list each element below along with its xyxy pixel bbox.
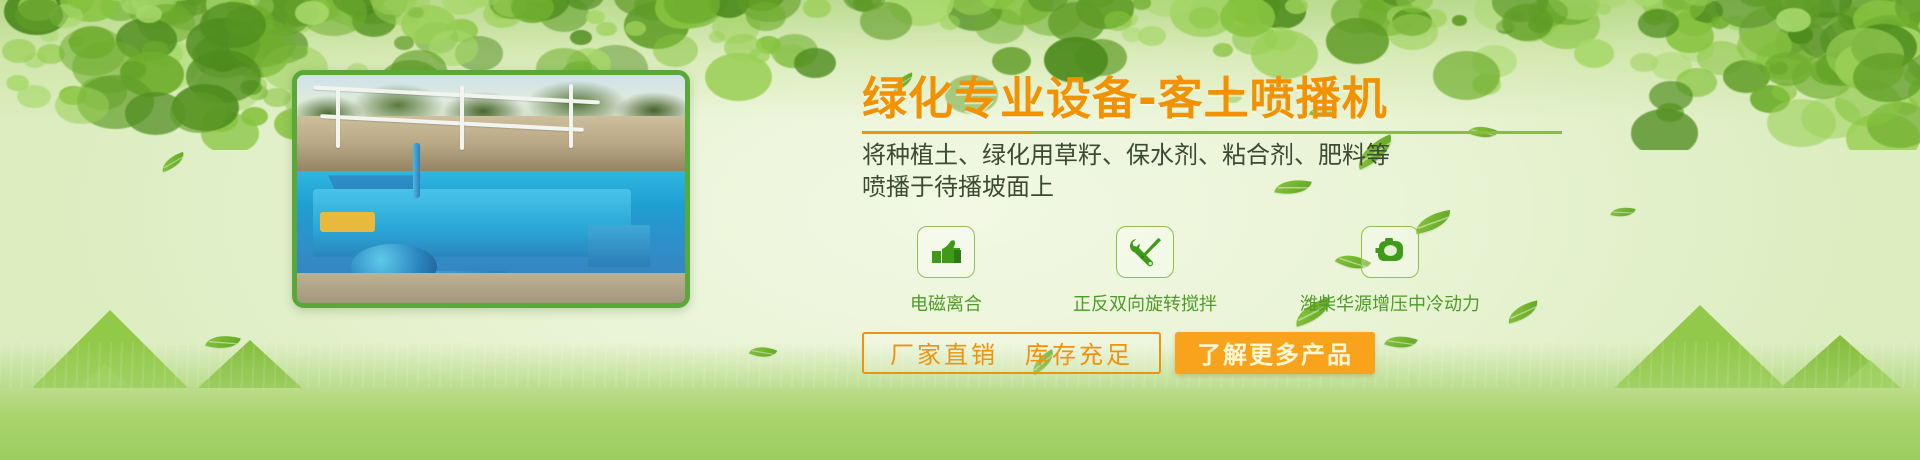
cta-outline-text: 厂家直销 库存充足: [862, 332, 1161, 374]
ground-strip: [0, 388, 1920, 460]
feature-label-3: 潍柴华源增压中冷动力: [1300, 290, 1480, 316]
feature-list: 电磁离合 正反双向旋转搅拌: [862, 226, 1852, 316]
feature-item-3[interactable]: 潍柴华源增压中冷动力: [1260, 226, 1520, 316]
feature-label-2: 正反双向旋转搅拌: [1073, 290, 1217, 316]
engine-gear-icon: [1361, 226, 1419, 278]
title-underline: [862, 131, 1562, 134]
banner-subtitle-line-1: 将种植土、绿化用草籽、保水剂、粘合剂、肥料等: [862, 140, 1852, 172]
tools-wrench-screwdriver-icon: [1116, 226, 1174, 278]
banner-content: 绿化专业设备-客土喷播机 将种植土、绿化用草籽、保水剂、粘合剂、肥料等 喷播于待…: [862, 74, 1852, 374]
feature-label-1: 电磁离合: [910, 290, 982, 316]
feature-item-1[interactable]: 电磁离合: [862, 226, 1030, 316]
feature-item-2[interactable]: 正反双向旋转搅拌: [1030, 226, 1260, 316]
banner-title: 绿化专业设备-客土喷播机: [862, 74, 1852, 124]
cta-row: 厂家直销 库存充足 了解更多产品: [862, 332, 1852, 374]
product-photo[interactable]: [292, 70, 690, 308]
banner-subtitle-line-2: 喷播于待播坡面上: [862, 172, 1852, 204]
thumbs-up-icon: [917, 226, 975, 278]
learn-more-button[interactable]: 了解更多产品: [1175, 332, 1375, 374]
product-photo-image: [297, 75, 685, 303]
promo-banner: 绿化专业设备-客土喷播机 将种植土、绿化用草籽、保水剂、粘合剂、肥料等 喷播于待…: [0, 0, 1920, 460]
